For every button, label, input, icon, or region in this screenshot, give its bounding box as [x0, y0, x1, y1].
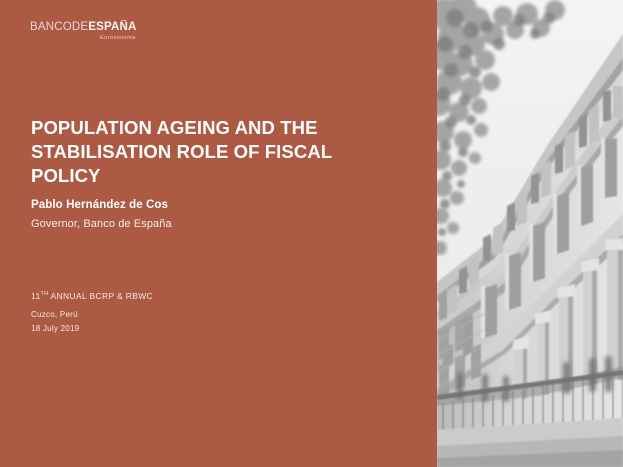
- author-block: Pablo Hernández de Cos Governor, Banco d…: [31, 197, 172, 232]
- logo-word-espana: ESPAÑA: [88, 21, 136, 33]
- building-photograph: [437, 0, 623, 467]
- building-photograph-graphic: [437, 0, 623, 467]
- author-role: Governor, Banco de España: [31, 216, 172, 232]
- event-name-rest: ANNUAL BCRP & RBWC: [48, 291, 153, 301]
- event-ordinal-number: 11: [31, 291, 41, 301]
- logo-wordmark: BANCODEESPAÑA: [30, 21, 137, 33]
- logo-word-banco-de: BANCODE: [30, 21, 88, 33]
- event-date: 18 July 2019: [31, 323, 153, 335]
- banco-de-espana-logo: BANCODEESPAÑA Eurosistema: [30, 21, 137, 41]
- author-name: Pablo Hernández de Cos: [31, 197, 172, 213]
- presentation-title: POPULATION AGEING AND THE STABILISATION …: [31, 116, 361, 188]
- event-name: 11TH ANNUAL BCRP & RBWC: [31, 288, 153, 302]
- left-color-panel: [0, 0, 437, 467]
- logo-subtitle-eurosistema: Eurosistema: [30, 35, 137, 41]
- event-details: 11TH ANNUAL BCRP & RBWC Cuzco, Perú 18 J…: [31, 288, 153, 335]
- event-location: Cuzco, Perú: [31, 309, 153, 321]
- title-slide: BANCODEESPAÑA Eurosistema POPULATION AGE…: [0, 0, 623, 467]
